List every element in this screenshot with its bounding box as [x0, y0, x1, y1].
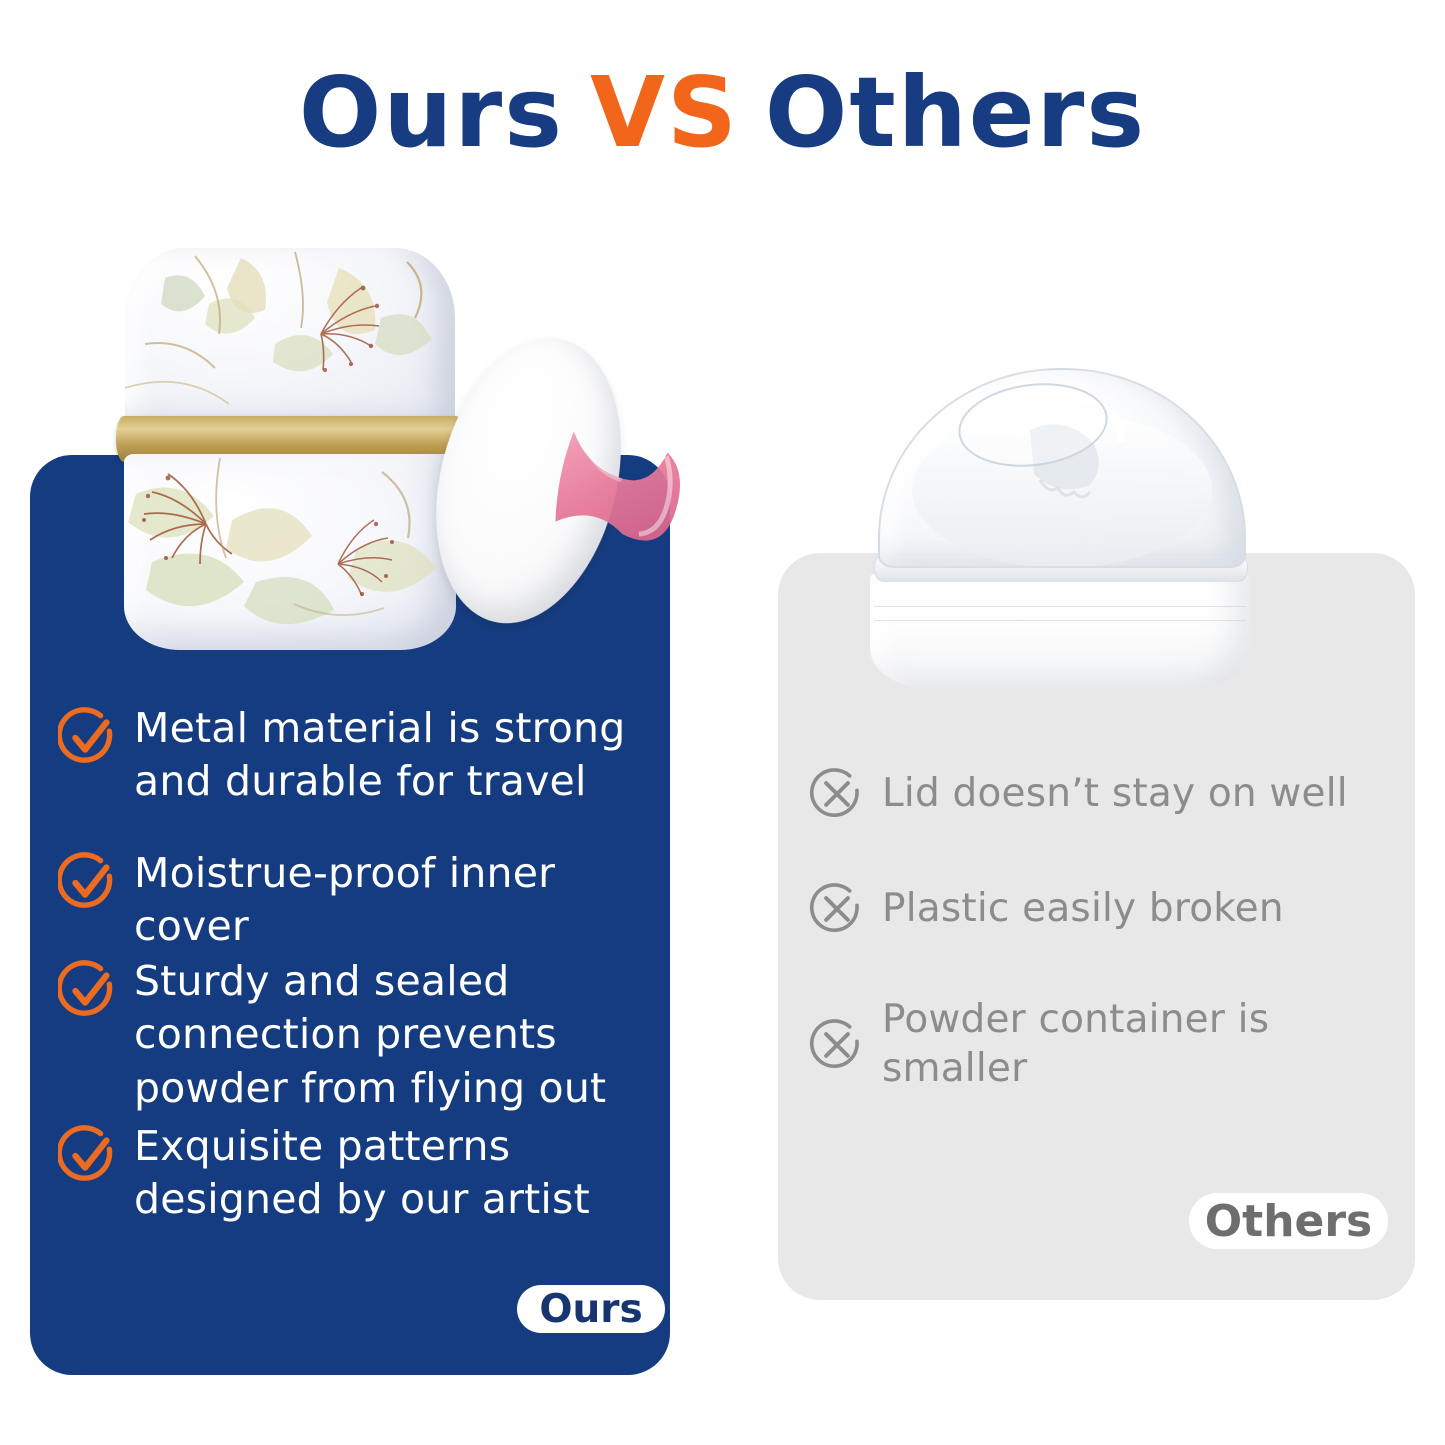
list-item: Sturdy and sealed connection prevents po… [58, 955, 668, 1115]
list-item-label: Plastic easily broken [882, 885, 1408, 934]
title-word-vs: VS [590, 62, 739, 164]
list-item-label: Exquisite patterns designed by our artis… [134, 1120, 668, 1227]
cross-circle-icon [808, 880, 866, 938]
list-item: Powder container is smaller [808, 996, 1408, 1094]
others-product-image [860, 368, 1260, 688]
page-title: OursVSOthers [0, 62, 1445, 164]
title-word-others: Others [765, 62, 1146, 164]
comparison-infographic: OursVSOthers Metal material is strong an… [0, 0, 1445, 1445]
cross-circle-icon [808, 1016, 866, 1074]
list-item-label: Metal material is strong and durable for… [134, 702, 668, 809]
list-item: Moistrue-proof inner cover [58, 847, 668, 954]
floral-pattern [124, 454, 456, 650]
jar-clear-dome-lid [878, 368, 1246, 568]
title-word-ours: Ours [299, 62, 564, 164]
others-badge: Others [1189, 1193, 1388, 1249]
check-circle-icon [58, 959, 120, 1021]
list-item-label: Sturdy and sealed connection prevents po… [134, 955, 668, 1115]
ours-badge: Ours [517, 1285, 665, 1333]
check-circle-icon [58, 706, 120, 768]
list-item: Lid doesn’t stay on well [808, 765, 1408, 823]
list-item-label: Lid doesn’t stay on well [882, 770, 1408, 819]
tin-body [124, 454, 456, 650]
jar-groove [874, 620, 1246, 621]
list-item: Plastic easily broken [808, 880, 1408, 938]
cross-circle-icon [808, 765, 866, 823]
list-item: Metal material is strong and durable for… [58, 702, 668, 809]
list-item-label: Powder container is smaller [882, 996, 1408, 1094]
jar-groove [874, 606, 1246, 607]
jar-base [870, 574, 1250, 688]
list-item: Exquisite patterns designed by our artis… [58, 1120, 668, 1227]
list-item-label: Moistrue-proof inner cover [134, 847, 668, 954]
check-circle-icon [58, 851, 120, 913]
tin-lid [125, 248, 455, 428]
floral-pattern [125, 248, 455, 428]
check-circle-icon [58, 1124, 120, 1186]
